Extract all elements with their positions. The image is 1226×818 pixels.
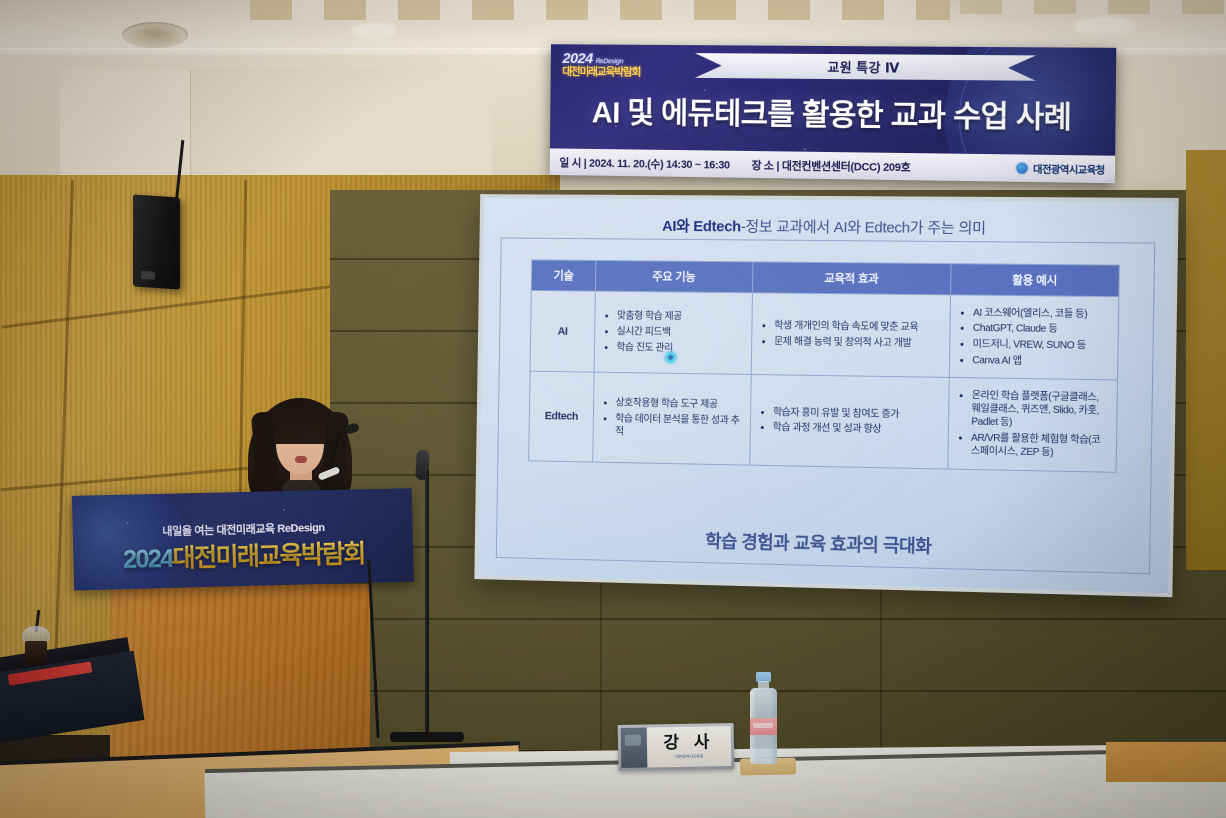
slide-title-rest: -정보 교과에서 AI와 Edtech가 주는 의미 — [741, 218, 986, 237]
cup-body — [25, 641, 47, 666]
list-item: 맞춤형 학습 제공 — [617, 310, 743, 325]
banner-organization: 대전광역시교육청 — [1016, 161, 1105, 177]
name-card-face: 강 사 대전광역시교육청 — [647, 726, 732, 767]
ceiling-vent-icon — [122, 22, 188, 48]
side-wall — [1186, 150, 1226, 570]
acoustic-panel-seam — [330, 618, 1226, 620]
list-item: 학습자 흥미 유발 및 참여도 증가 — [773, 406, 939, 422]
iced-coffee-cup — [22, 626, 50, 666]
right-wood-table — [1106, 742, 1226, 782]
banner-organization-label: 대전광역시교육청 — [1033, 161, 1105, 177]
banner-logo-korean: 대전미래교육박람회 — [562, 67, 669, 79]
list-item: AR/VR를 활용한 체험형 학습(코스페이시스, ZEP 등) — [971, 431, 1107, 460]
banner-logo-year: 2024 — [562, 50, 593, 67]
podium-event-sign: 내일을 여는 대전미래교육 ReDesign 2024대전미래교육박람회 — [72, 488, 414, 590]
row-functions: 상호작용형 학습 도구 제공 학습 데이터 분석을 통한 성과 추적 — [593, 372, 751, 464]
list-item: ChatGPT, Claude 등 — [973, 322, 1109, 337]
speaker-name-card: 강 사 대전광역시교육청 — [618, 723, 735, 771]
row-tech-name: Edtech — [529, 371, 594, 461]
list-item: 온라인 학습 플랫폼(구글클래스, 웨일클래스, 퀴즈앤, Slido, 카훗,… — [971, 389, 1107, 431]
slide-title: AI와 Edtech-정보 교과에서 AI와 Edtech가 주는 의미 — [483, 214, 1174, 240]
banner-place-label: 장 소 | 대전컨벤션센터(DCC) 209호 — [751, 156, 910, 174]
podium-sign-year: 2024 — [123, 545, 173, 574]
column-header-tech: 기술 — [531, 260, 596, 291]
banner-logo-redesign: ReDesign — [596, 58, 624, 65]
list-item: 학습 진도 관리 — [616, 341, 742, 356]
table-row: AI 맞춤형 학습 제공 실시간 피드백 학습 진도 관리 학생 개개인의 학습… — [530, 290, 1119, 380]
microphone-stand-pole — [425, 470, 429, 738]
water-bottle — [749, 672, 777, 764]
list-item: 학생 개개인의 학습 속도에 맞춘 교육 — [774, 320, 940, 335]
acoustic-panel-seam — [330, 690, 1226, 692]
list-item: Canva AI 앱 — [972, 354, 1108, 369]
row-tech-name: AI — [530, 290, 595, 372]
banner-date-label: 일 시 | 2024. 11. 20.(수) 14:30 ~ 16:30 — [559, 154, 730, 172]
list-item: AI 코스웨어(엘리스, 코들 등) — [973, 306, 1109, 321]
podium-body — [110, 584, 370, 766]
wall-speaker-icon — [133, 194, 180, 289]
name-card-label: 강 사 — [663, 733, 714, 751]
list-item: 문제 해결 능력 및 창의적 사고 개발 — [774, 335, 940, 350]
slide-title-bold: AI와 Edtech — [662, 218, 741, 235]
row-examples: 온라인 학습 플랫폼(구글클래스, 웨일클래스, 퀴즈앤, Slido, 카훗,… — [948, 378, 1118, 472]
podium-sign-name: 대전미래교육박람회 — [172, 540, 365, 573]
education-office-logo-icon — [1016, 162, 1029, 175]
banner-session-label: 교원 특강 Ⅳ — [827, 57, 900, 77]
column-header-functions: 주요 기능 — [595, 260, 753, 292]
name-card-side-panel — [621, 728, 648, 768]
ceiling-light-panels — [250, 0, 950, 20]
list-item: 학습 데이터 분석을 통한 성과 추적 — [615, 412, 741, 440]
presenter-mouth — [295, 456, 307, 463]
list-item: 실시간 피드백 — [617, 326, 743, 341]
banner-session-ribbon: 교원 특강 Ⅳ — [695, 53, 1036, 81]
list-item: 학습 과정 개선 및 성과 향상 — [773, 421, 939, 437]
list-item: 미드저니, VREW, SUNO 등 — [972, 338, 1108, 353]
column-header-effects: 교육적 효과 — [752, 262, 951, 295]
ceiling-spotlight-icon — [1075, 18, 1135, 34]
list-item: 상호작용형 학습 도구 제공 — [615, 397, 741, 412]
banner-logo: 2024ReDesign 대전미래교육박람회 — [562, 51, 669, 78]
row-effects: 학습자 흥미 유발 및 참여도 증가 학습 과정 개선 및 성과 향상 — [750, 375, 949, 469]
bottle-label — [750, 718, 777, 735]
projected-slide: AI와 Edtech-정보 교과에서 AI와 Edtech가 주는 의미 기술 … — [478, 198, 1174, 593]
projection-screen: AI와 Edtech-정보 교과에서 AI와 Edtech가 주는 의미 기술 … — [474, 194, 1178, 597]
microphone-stand-base — [390, 732, 464, 742]
banner-lecture-title: AI 및 에듀테크를 활용한 교과 수업 사례 — [550, 87, 1116, 137]
ceiling-spotlight-icon — [352, 24, 396, 37]
row-effects: 학생 개개인의 학습 속도에 맞춘 교육 문제 해결 능력 및 창의적 사고 개… — [751, 293, 950, 378]
slide-comparison-table: 기술 주요 기능 교육적 효과 활용 예시 AI 맞춤형 학습 제공 실시간 피… — [528, 259, 1120, 472]
presentation-room-photo: 2024ReDesign 대전미래교육박람회 교원 특강 Ⅳ AI 및 에듀테크… — [0, 0, 1226, 818]
overhead-event-banner: 2024ReDesign 대전미래교육박람회 교원 특강 Ⅳ AI 및 에듀테크… — [550, 44, 1117, 183]
column-header-examples: 활용 예시 — [951, 264, 1120, 297]
row-examples: AI 코스웨어(엘리스, 코들 등) ChatGPT, Claude 등 미드저… — [949, 295, 1119, 380]
name-card-org-label: 대전광역시교육청 — [675, 754, 703, 760]
table-row: Edtech 상호작용형 학습 도구 제공 학습 데이터 분석을 통한 성과 추… — [529, 371, 1118, 472]
ceiling-light-panels-right — [960, 0, 1226, 14]
